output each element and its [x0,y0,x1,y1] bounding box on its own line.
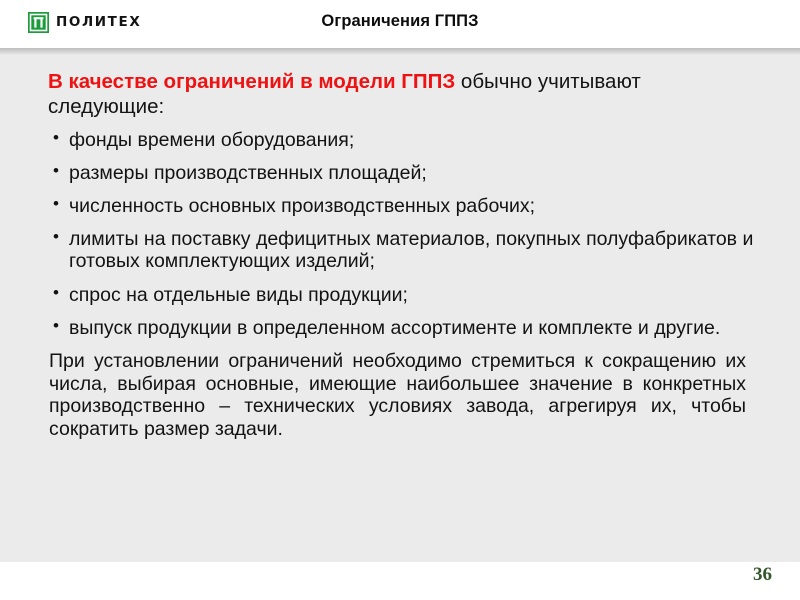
slide-title: Ограничения ГППЗ [0,12,800,31]
list-item: спрос на отдельные виды продукции; [52,284,754,306]
list-item: численность основных производственных ра… [52,195,754,217]
content-inner: В качестве ограничений в модели ГППЗ обы… [0,48,800,441]
intro-lead-highlight: В качестве ограничений в модели ГППЗ [48,70,455,93]
list-item: лимиты на поставку дефицитных материалов… [52,228,754,272]
closing-paragraph: При установлении ограничений необходимо … [36,350,754,440]
slide-content-panel: В качестве ограничений в модели ГППЗ обы… [0,48,800,562]
slide-header: ПОЛИТЕХ Ограничения ГППЗ [0,0,800,48]
list-item: размеры производственных площадей; [52,162,754,184]
list-item: выпуск продукции в определенном ассортим… [52,317,754,339]
slide: ПОЛИТЕХ Ограничения ГППЗ В качестве огра… [0,0,800,600]
constraints-list: фонды времени оборудования; размеры прои… [36,129,754,340]
intro-paragraph: В качестве ограничений в модели ГППЗ обы… [36,70,754,120]
list-item: фонды времени оборудования; [52,129,754,151]
page-number: 36 [753,564,772,586]
slide-footer: 36 [0,562,800,600]
